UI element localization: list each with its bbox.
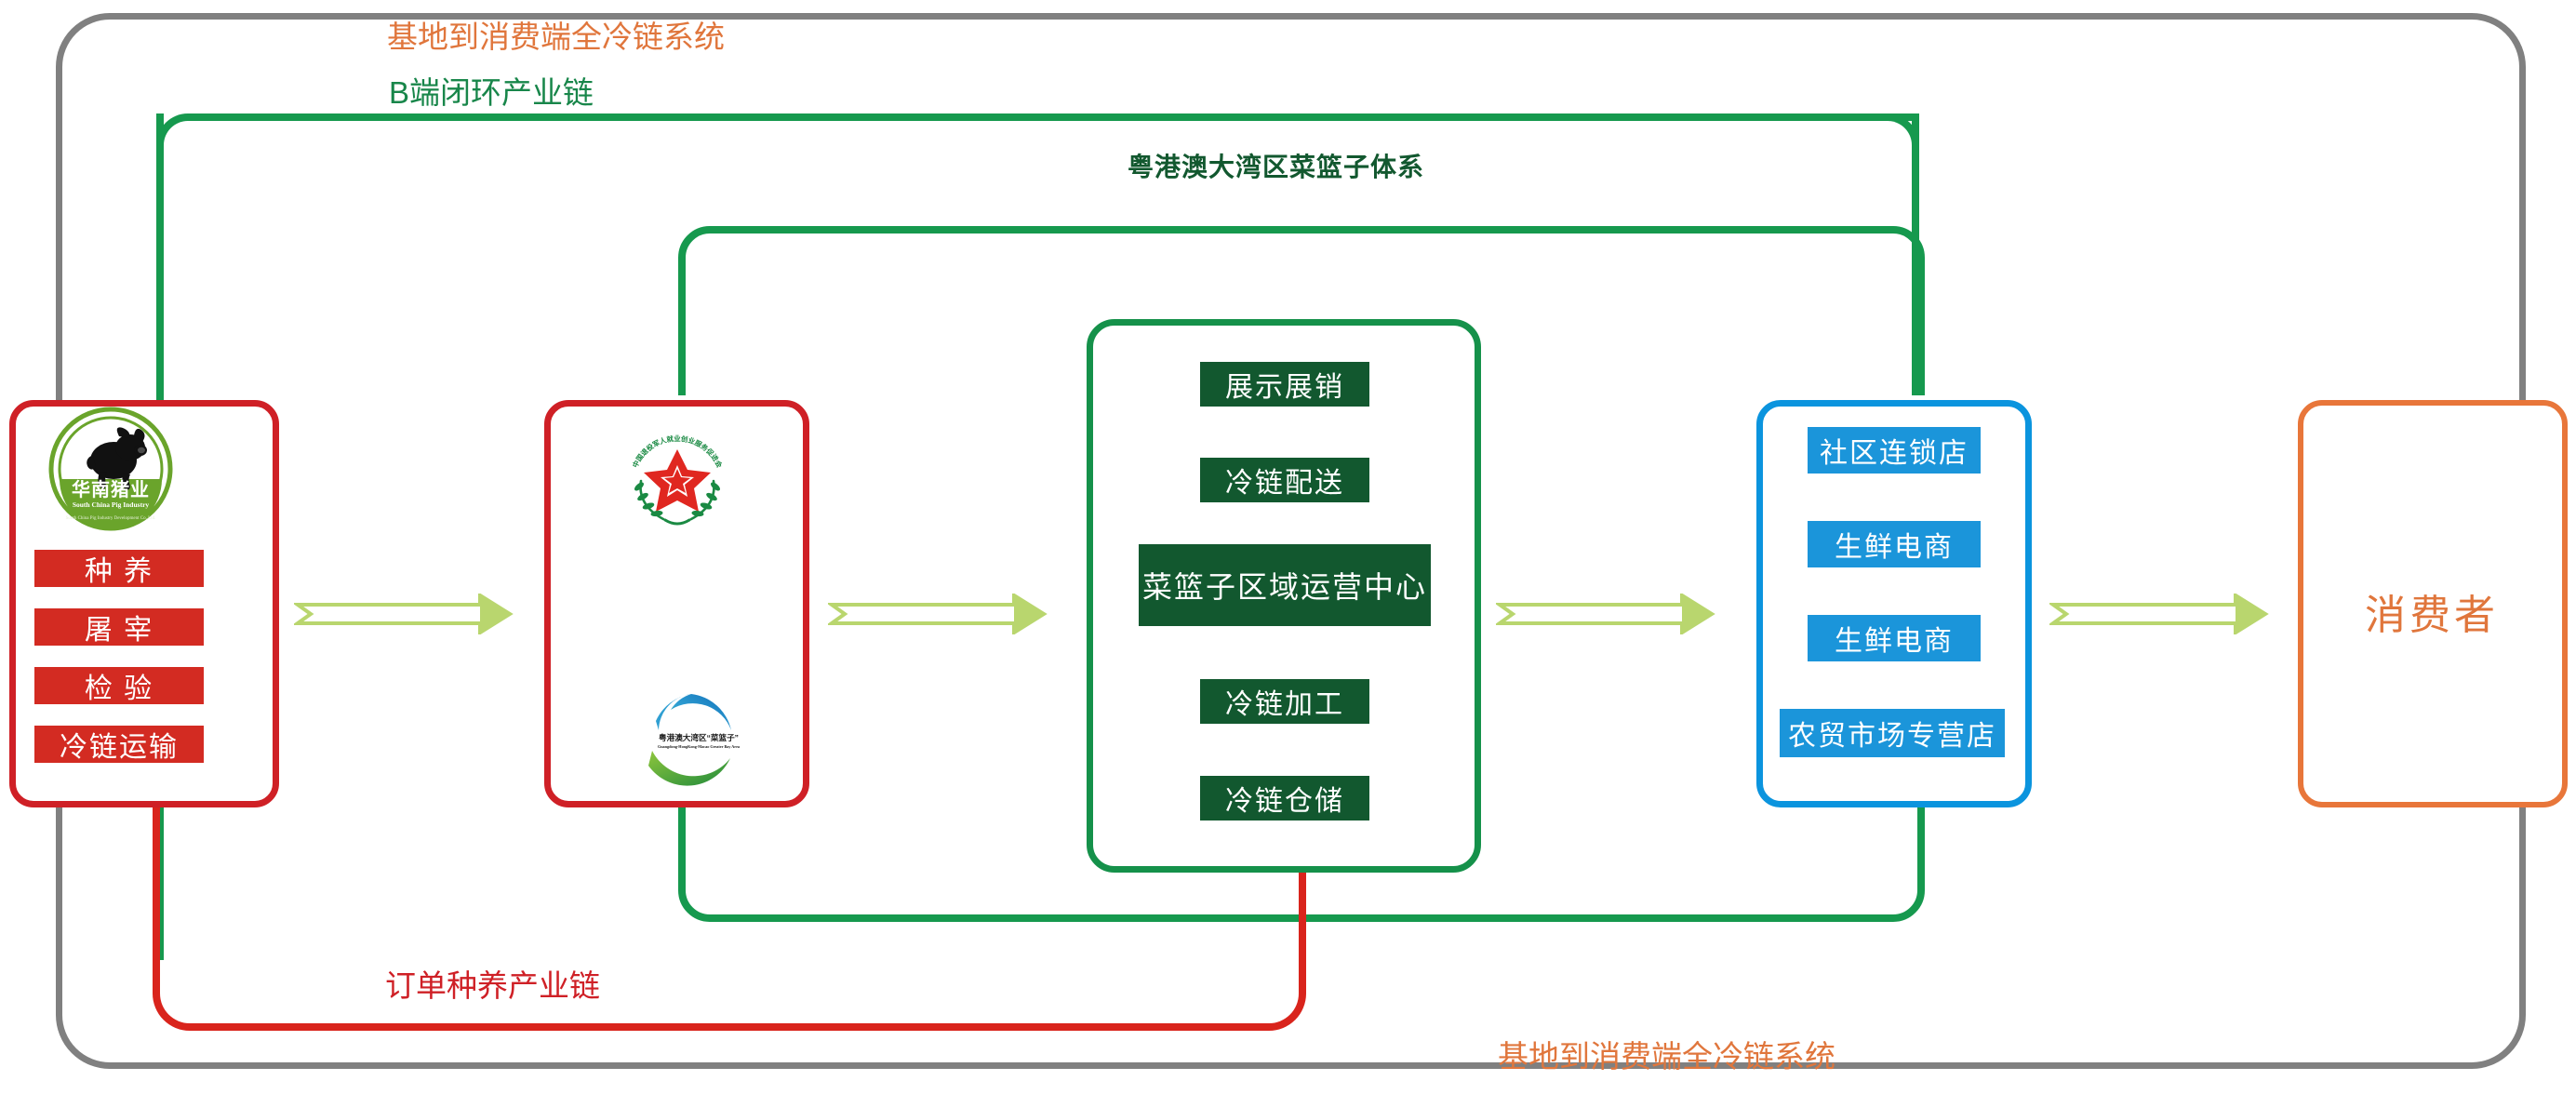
retail-chip-3: 农贸市场专营店 (1780, 709, 2005, 757)
production-chip-3: 冷链运输 (34, 726, 204, 763)
basket-chip-2-operations-center: 菜篮子区域运营中心 (1139, 544, 1431, 626)
arrow-production-to-certification (294, 594, 540, 634)
retail-chip-2: 生鲜电商 (1808, 615, 1981, 661)
svg-text:华南猪业: 华南猪业 (72, 478, 150, 500)
south-china-pig-industry-logo: 华南猪业 South China Pig Industry South Chin… (48, 407, 173, 531)
veterans-employment-association-emblem: 中国退役军人就业创业服务促进会 (619, 423, 736, 540)
basket-chip-3: 冷链加工 (1200, 679, 1369, 724)
supply-chain-diagram: 基地到消费端全冷链系统 基地到消费端全冷链系统 B端闭环产业链 粤港澳大湾区菜篮… (0, 0, 2576, 1094)
arrow-retail-to-consumer (2049, 594, 2295, 634)
consumer-label: 消费者 (2365, 581, 2499, 641)
retail-chip-1: 生鲜电商 (1808, 521, 1981, 567)
svg-text:South China Pig Industry: South China Pig Industry (73, 500, 150, 509)
arrow-certification-to-basket (828, 594, 1074, 634)
retail-chip-0: 社区连锁店 (1808, 427, 1981, 474)
basket-chip-1: 冷链配送 (1200, 458, 1369, 502)
arrow-basket-to-retail (1496, 594, 1742, 634)
production-chip-1: 屠 宰 (34, 608, 204, 646)
svg-text:粤港澳大湾区“菜篮子”: 粤港澳大湾区“菜篮子” (659, 732, 739, 742)
order-farming-loop-label: 订单种养产业链 (385, 961, 600, 1006)
greater-bay-area-vegetable-basket-logo: 粤港澳大湾区“菜篮子” Guangdong-HongKong-Macao Gre… (634, 686, 743, 795)
svg-text:South China Pig Industry Devel: South China Pig Industry Development Co.… (66, 516, 156, 521)
production-chip-2: 检 验 (34, 667, 204, 704)
svg-text:Guangdong-HongKong-Macao Great: Guangdong-HongKong-Macao Greater Bay Are… (658, 744, 741, 749)
production-chip-0: 种 养 (34, 550, 204, 587)
basket-system-title: 粤港澳大湾区菜篮子体系 (1128, 147, 1424, 184)
basket-chip-0: 展示展销 (1200, 362, 1369, 407)
b-end-loop-top-right-corner (1823, 113, 1919, 151)
b-end-loop-label: B端闭环产业链 (389, 68, 594, 113)
outer-frame-bottom-label: 基地到消费端全冷链系统 (1498, 1032, 1835, 1076)
basket-chip-4: 冷链仓储 (1200, 776, 1369, 820)
outer-frame-top-label: 基地到消费端全冷链系统 (387, 12, 725, 57)
